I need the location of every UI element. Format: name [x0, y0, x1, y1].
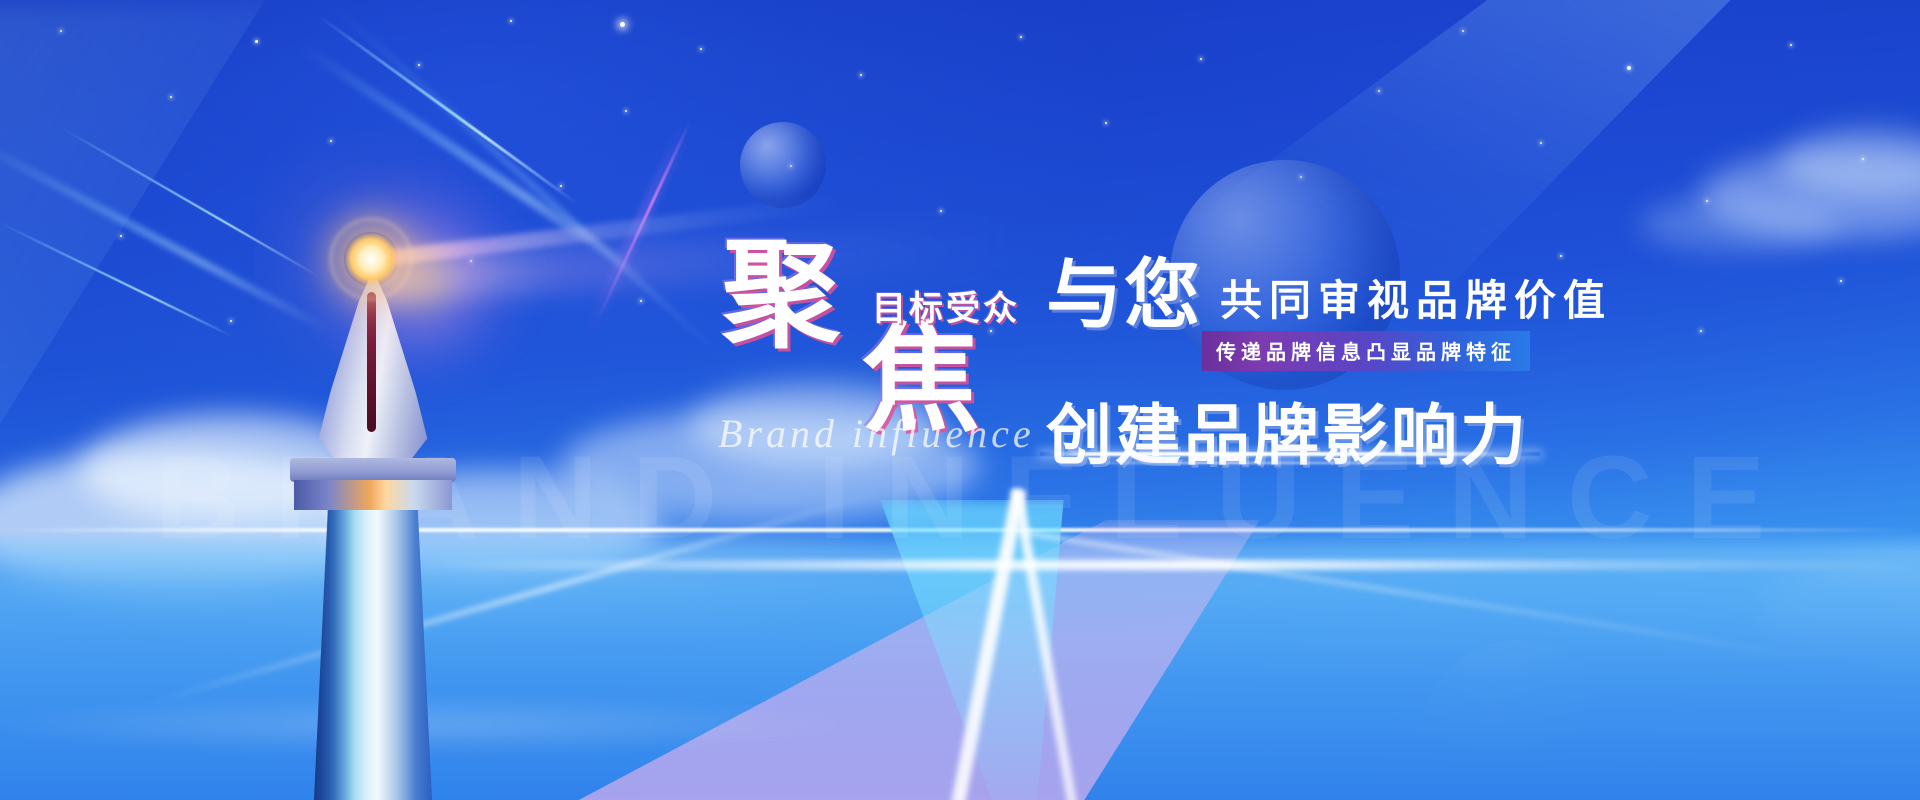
script-tagline: Brand influence — [718, 410, 1035, 457]
headline-emphasis: 与您 — [1046, 258, 1202, 334]
headline-block: 聚 焦 目标受众 Brand influence 与您 共同审视品牌价值 传递品… — [0, 0, 1920, 800]
status-badge: 传递品牌信息凸显品牌特征 — [1202, 331, 1530, 371]
headline-rest: 共同审视品牌价值 — [1220, 280, 1612, 322]
focus-char-ju: 聚 — [722, 238, 840, 356]
audience-label: 目标受众 — [872, 281, 1020, 330]
headline-line-1: 与您 共同审视品牌价值 — [1046, 258, 1612, 334]
divider-secondary — [1046, 462, 1516, 464]
divider-primary — [1040, 452, 1540, 456]
promo-banner: BRAND INFLUENCE 聚 焦 目标受众 Brand influence… — [0, 0, 1920, 800]
